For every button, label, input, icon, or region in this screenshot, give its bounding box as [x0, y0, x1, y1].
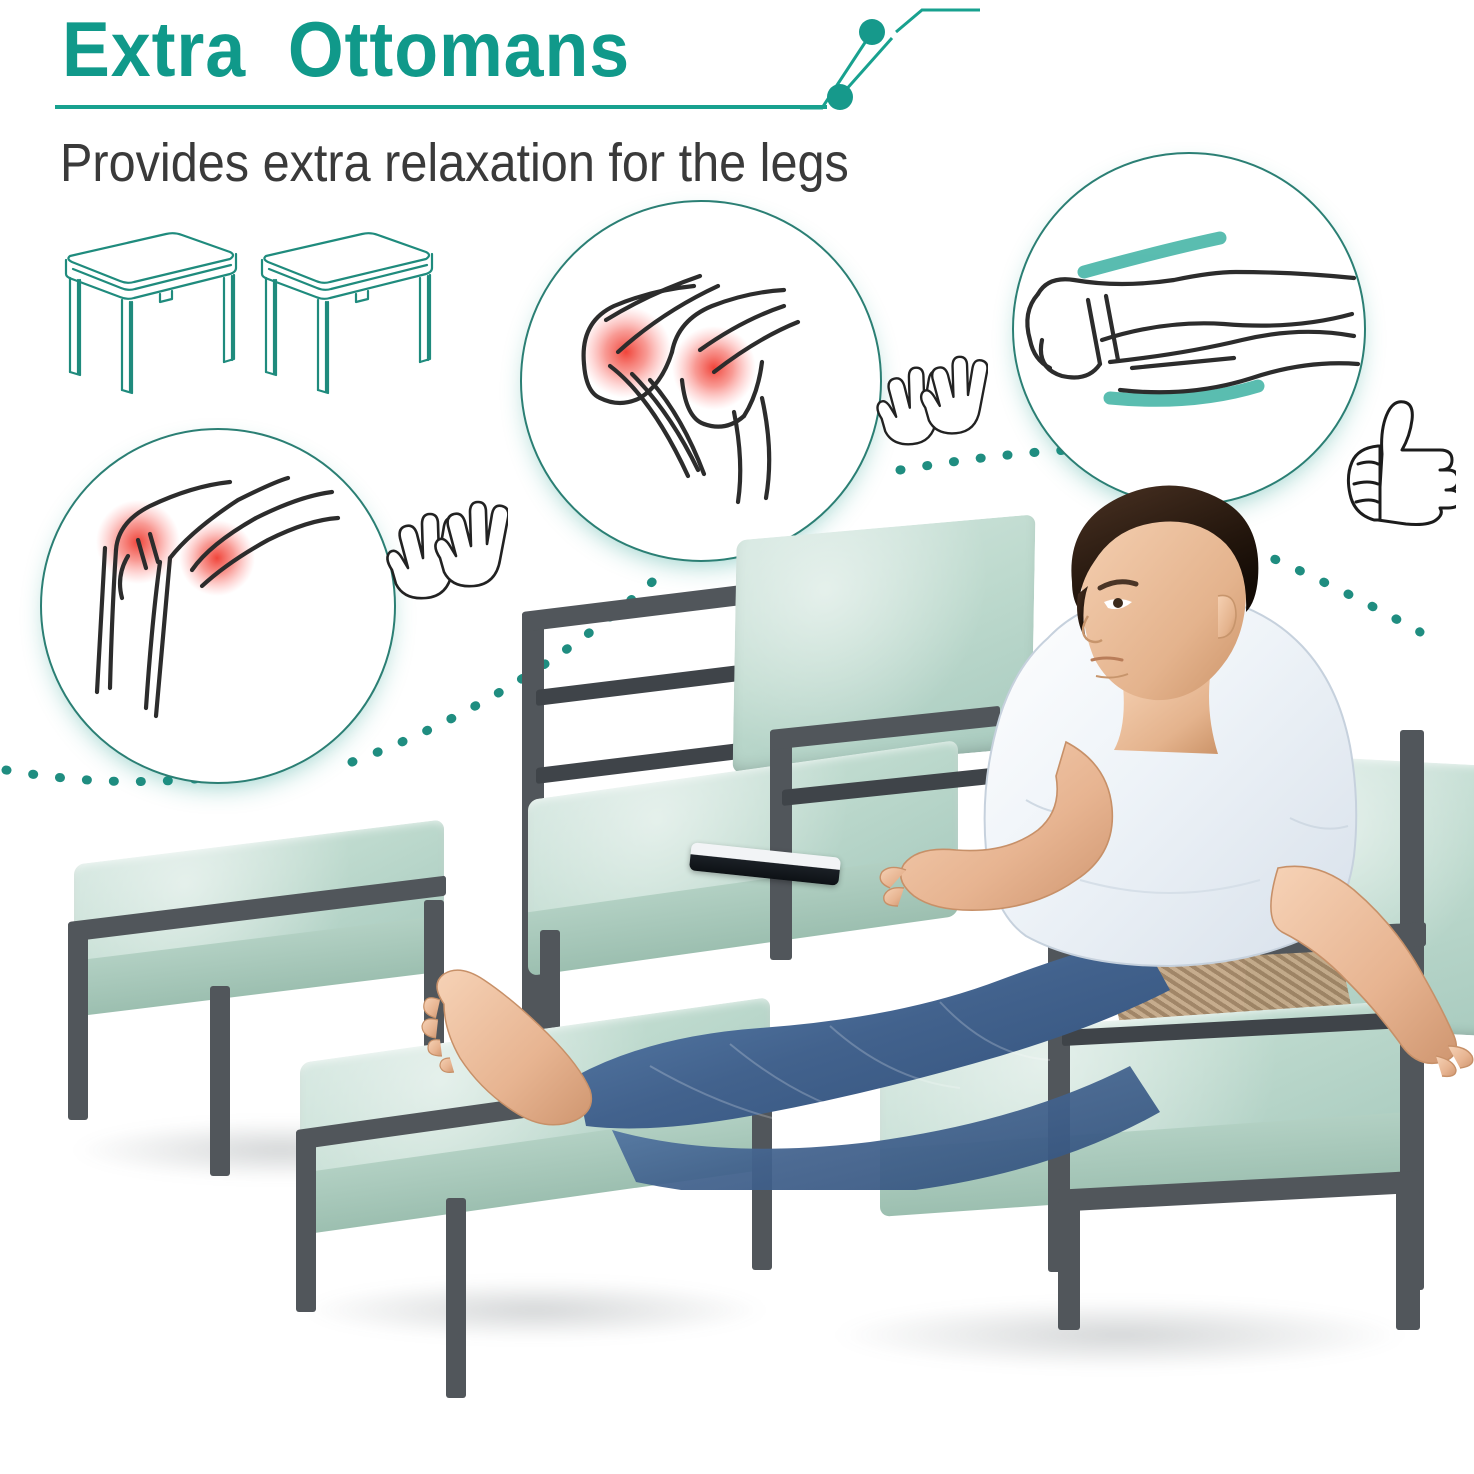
chair-leg [1058, 1200, 1080, 1330]
ottoman-line-icon-2 [262, 233, 432, 393]
ottoman-line-icon-group [48, 222, 458, 397]
bare-feet [410, 948, 640, 1138]
lifestyle-product-photo [0, 430, 1474, 1474]
ottoman-leg [68, 930, 88, 1120]
ottoman-leg [446, 1198, 466, 1398]
ottoman-shadow [300, 1280, 770, 1340]
circuit-dots-decoration-icon [800, 0, 980, 115]
infographic-canvas: Extra Ottomans Provides extra relaxation… [0, 0, 1474, 1474]
arm-with-remote [860, 730, 1180, 970]
chair-leg [1396, 1190, 1420, 1330]
ottoman-leg [296, 1142, 316, 1312]
ottoman-line-icon-1 [66, 233, 236, 393]
right-arm [1270, 850, 1474, 1080]
page-title: Extra Ottomans [62, 4, 630, 95]
sofa-shadow [830, 1300, 1410, 1370]
page-subtitle: Provides extra relaxation for the legs [60, 132, 849, 194]
man-head [1030, 470, 1310, 770]
title-underline [55, 105, 827, 109]
ottoman-leg [210, 986, 230, 1176]
